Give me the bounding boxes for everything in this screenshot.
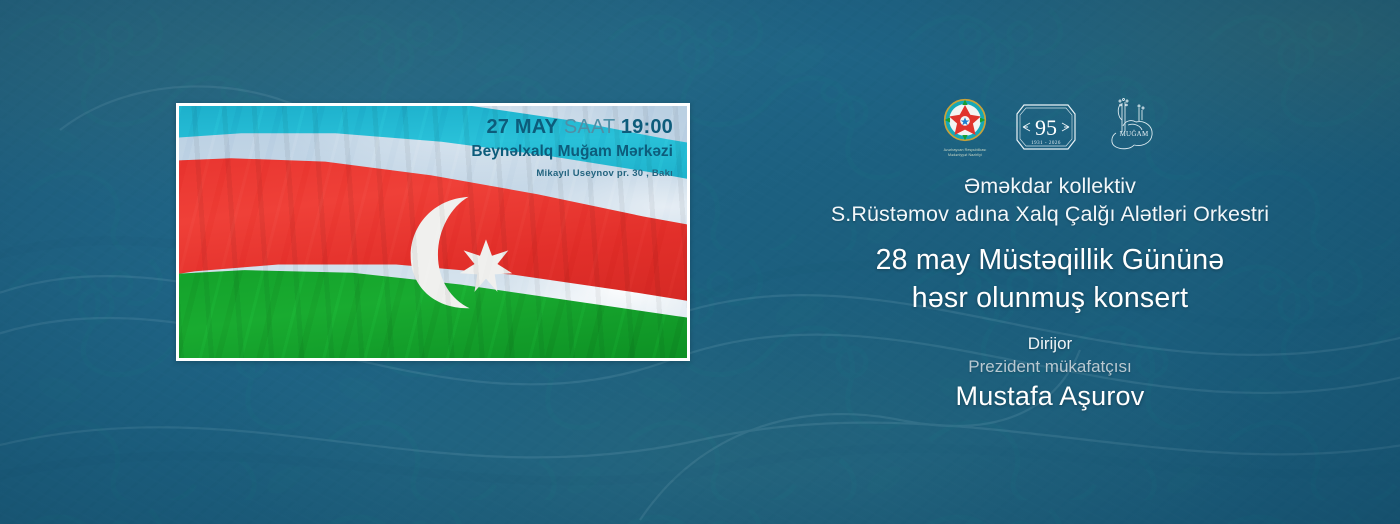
anniversary-95-logo: 95 1931 - 2026 [1013, 101, 1079, 158]
conductor-award: Prezident mükafatçısı [700, 357, 1400, 377]
ministry-caption-line2: Mədəniyyət Nazirliyi [943, 153, 987, 158]
conductor-role: Dirijor [700, 334, 1400, 354]
anniversary-number: 95 [1035, 115, 1057, 140]
azerbaijan-flag-photo: 27 MAY SAAT 19:00 Beynəlxalq Muğam Mərkə… [179, 106, 687, 358]
event-venue: Beynəlxalq Muğam Mərkəzi [471, 143, 673, 161]
event-address: Mikayıl Useynov pr. 30 , Bakı [471, 168, 673, 179]
event-saat-label: SAAT [564, 116, 615, 138]
ensemble-line-2: S.Rüstəmov adına Xalq Çalğı Alətləri Ork… [700, 200, 1400, 228]
ministry-emblem-icon [943, 98, 987, 142]
anniversary-years: 1931 - 2026 [1031, 141, 1061, 146]
conductor-name: Mustafa Aşurov [700, 381, 1400, 412]
headline-line-1: 28 may Müstəqillik Gününə [700, 242, 1400, 280]
mugham-tar-icon: MUĞAM [1105, 97, 1157, 153]
photo-caption: 27 MAY SAAT 19:00 Beynəlxalq Muğam Mərkə… [471, 116, 673, 179]
ensemble-line-1: Əməkdar kollektiv [700, 172, 1400, 200]
flag-photo-frame: 27 MAY SAAT 19:00 Beynəlxalq Muğam Mərkə… [176, 103, 690, 361]
anniversary-frame-icon: 95 1931 - 2026 [1013, 101, 1079, 153]
concert-announcement-banner: 27 MAY SAAT 19:00 Beynəlxalq Muğam Mərkə… [0, 0, 1400, 524]
event-time: 19:00 [621, 116, 673, 138]
ministry-caption: Azərbaycan Respublikası Mədəniyyət Nazir… [943, 148, 987, 158]
event-date: 27 MAY [486, 116, 558, 138]
mugham-wordmark: MUĞAM [1120, 130, 1149, 138]
event-datetime: 27 MAY SAAT 19:00 [471, 116, 673, 140]
logo-row: Azərbaycan Respublikası Mədəniyyət Nazir… [700, 96, 1400, 158]
headline-line-2: həsr olunmuş konsert [700, 280, 1400, 318]
ministry-of-culture-logo: Azərbaycan Respublikası Mədəniyyət Nazir… [943, 98, 987, 158]
mugham-center-logo: MUĞAM [1105, 97, 1157, 158]
announcement-text-column: Azərbaycan Respublikası Mədəniyyət Nazir… [700, 96, 1400, 412]
